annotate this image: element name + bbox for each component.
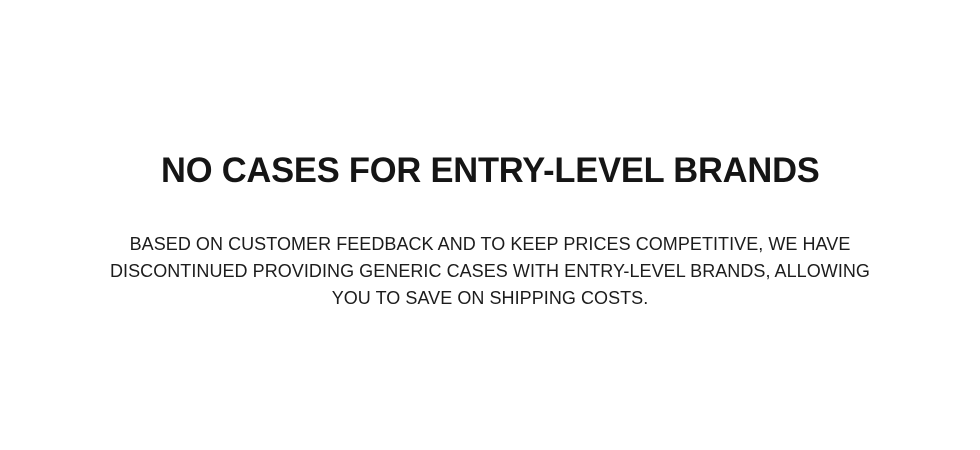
promo-description-line: YOU TO SAVE ON SHIPPING COSTS. <box>90 285 890 312</box>
promo-description-line: DISCONTINUED PROVIDING GENERIC CASES WIT… <box>90 258 890 285</box>
promo-banner: NO CASES FOR ENTRY-LEVEL BRANDS BASED ON… <box>0 0 980 450</box>
page-title: NO CASES FOR ENTRY-LEVEL BRANDS <box>161 152 820 190</box>
promo-description: BASED ON CUSTOMER FEEDBACK AND TO KEEP P… <box>90 231 890 312</box>
heading-body-spacer <box>490 190 491 231</box>
promo-description-line: BASED ON CUSTOMER FEEDBACK AND TO KEEP P… <box>90 231 890 258</box>
